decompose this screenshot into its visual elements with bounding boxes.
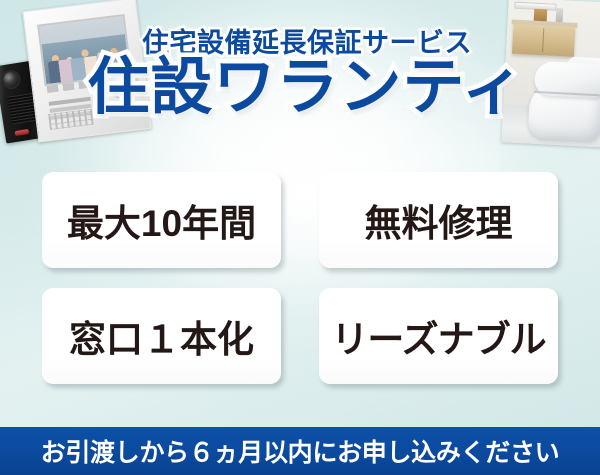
feature-box-max-years: 最大10年間 (42, 172, 281, 268)
feature-box-single-contact: 窓口１本化 (42, 288, 281, 384)
feature-box-reasonable: リーズナブル (319, 288, 558, 384)
feature-box-grid: 最大10年間 無料修理 窓口１本化 リーズナブル (42, 172, 558, 384)
feature-box-free-repair: 無料修理 (319, 172, 558, 268)
feature-label: 無料修理 (365, 193, 513, 247)
footer-notice-bar: お引渡しから６ヵ月以内にお申し込みください (0, 427, 600, 475)
banner-title: 住設ワランティ (0, 55, 600, 120)
feature-label: 窓口１本化 (69, 309, 254, 363)
decor-box (534, 9, 548, 22)
feature-label: リーズナブル (331, 309, 545, 363)
promo-banner: 住宅設備延長保証サービス 住設ワランティ 最大10年間 無料修理 窓口１本化 リ… (0, 0, 600, 475)
intercom-call-button (15, 129, 30, 136)
feature-label: 最大10年間 (67, 193, 256, 247)
footer-notice-text: お引渡しから６ヵ月以内にお申し込みください (41, 433, 560, 469)
